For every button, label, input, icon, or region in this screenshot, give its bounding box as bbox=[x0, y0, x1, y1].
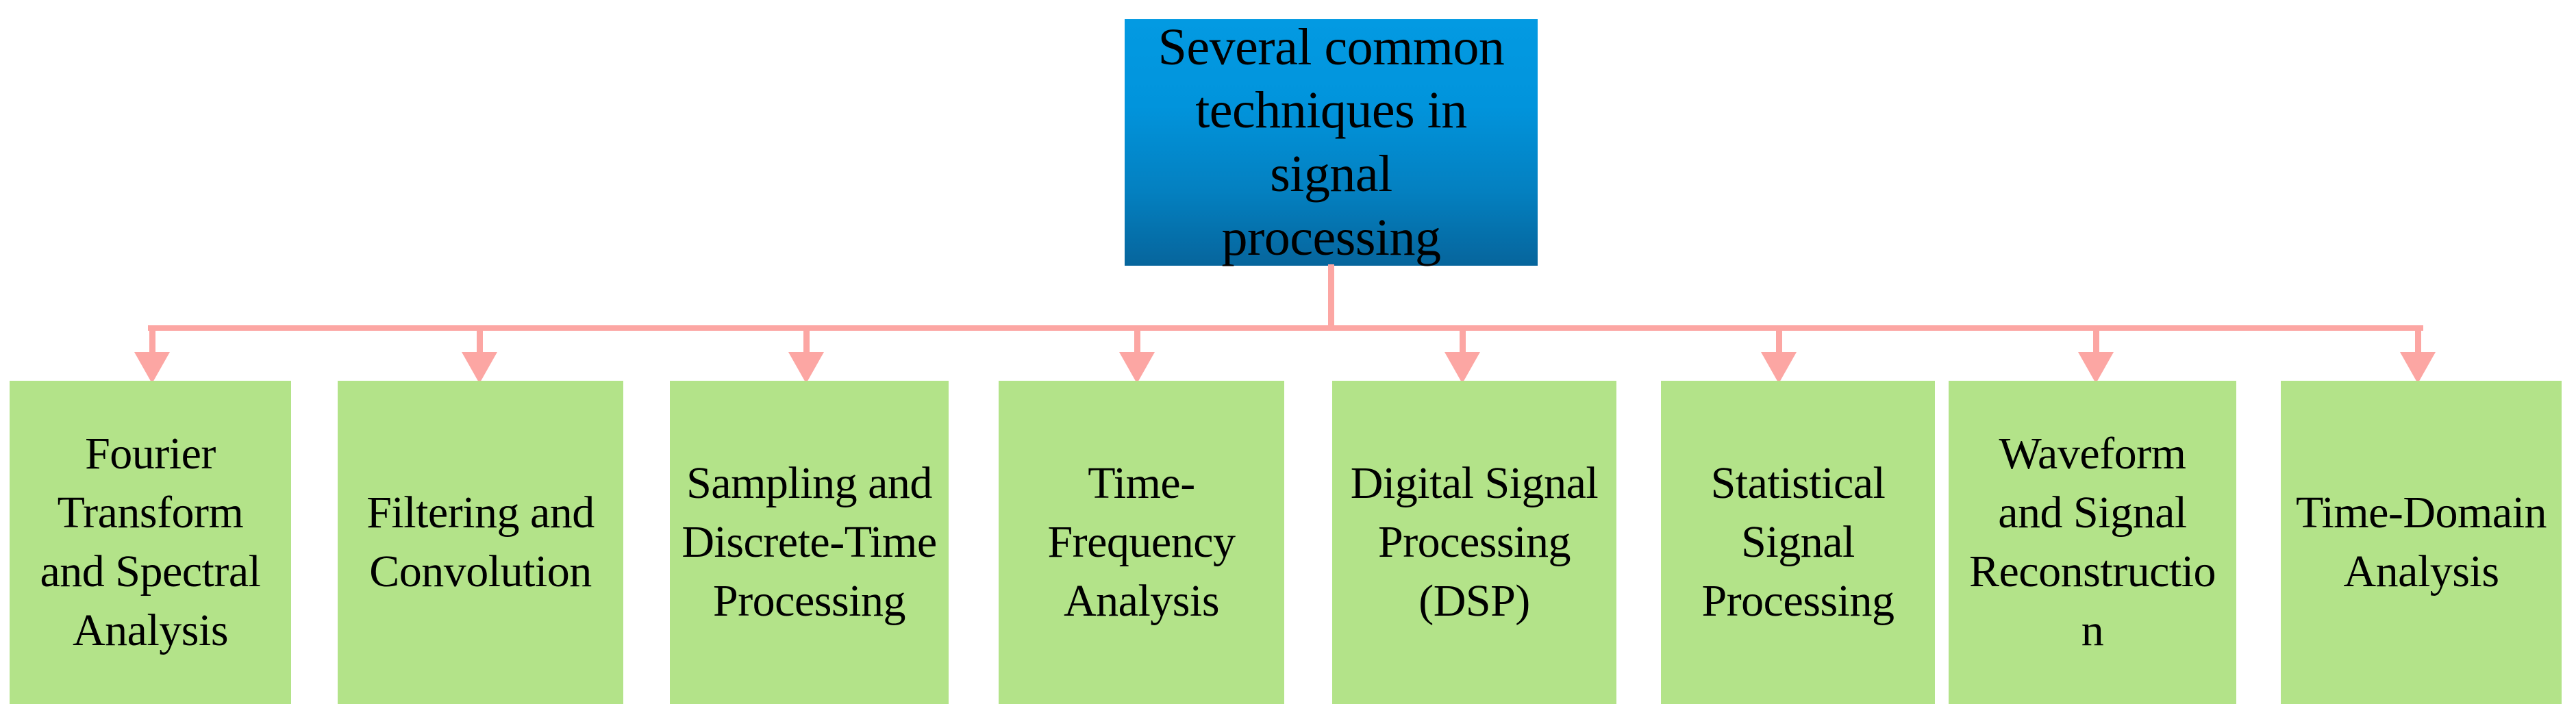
connector-arrow-2 bbox=[462, 325, 497, 384]
arrow-stem-icon bbox=[803, 325, 810, 353]
arrow-stem-icon bbox=[1460, 325, 1466, 353]
leaf-node-4[interactable]: Time- Frequency Analysis bbox=[999, 381, 1284, 704]
connector-arrow-1 bbox=[134, 325, 170, 384]
leaf-node-7[interactable]: Waveform and Signal Reconstructio n bbox=[1949, 381, 2236, 704]
arrow-stem-icon bbox=[2093, 325, 2099, 353]
leaf-node-2[interactable]: Filtering and Convolution bbox=[338, 381, 623, 704]
arrow-stem-icon bbox=[1134, 325, 1140, 353]
connector-arrow-6 bbox=[1761, 325, 1797, 384]
arrow-stem-icon bbox=[1776, 325, 1782, 353]
connector-arrow-3 bbox=[788, 325, 824, 384]
leaf-node-label: Time- Frequency Analysis bbox=[1007, 454, 1276, 630]
leaf-node-label: Time-Domain Analysis bbox=[2289, 483, 2553, 601]
root-connector-stem bbox=[1328, 264, 1334, 328]
leaf-node-3[interactable]: Sampling and Discrete-Time Processing bbox=[670, 381, 949, 704]
arrow-stem-icon bbox=[477, 325, 483, 353]
leaf-node-label: Digital Signal Processing (DSP) bbox=[1340, 454, 1608, 630]
arrow-head-icon bbox=[1119, 352, 1155, 384]
leaf-node-label: Sampling and Discrete-Time Processing bbox=[678, 454, 940, 630]
arrow-head-icon bbox=[462, 352, 497, 384]
leaf-node-5[interactable]: Digital Signal Processing (DSP) bbox=[1332, 381, 1616, 704]
leaf-node-label: Fourier Transform and Spectral Analysis bbox=[18, 425, 283, 659]
diagram-canvas: Several common techniques in signal proc… bbox=[0, 0, 2576, 704]
leaf-node-label: Waveform and Signal Reconstructio n bbox=[1957, 425, 2228, 659]
arrow-head-icon bbox=[2078, 352, 2114, 384]
connector-arrow-8 bbox=[2400, 325, 2436, 384]
connector-arrow-7 bbox=[2078, 325, 2114, 384]
leaf-node-label: Filtering and Convolution bbox=[346, 483, 615, 601]
leaf-node-6[interactable]: Statistical Signal Processing bbox=[1661, 381, 1935, 704]
arrow-head-icon bbox=[2400, 352, 2436, 384]
root-node[interactable]: Several common techniques in signal proc… bbox=[1125, 19, 1538, 266]
root-node-label: Several common techniques in signal proc… bbox=[1142, 16, 1520, 270]
arrow-stem-icon bbox=[149, 325, 155, 353]
arrow-stem-icon bbox=[2415, 325, 2421, 353]
leaf-node-8[interactable]: Time-Domain Analysis bbox=[2281, 381, 2562, 704]
leaf-node-1[interactable]: Fourier Transform and Spectral Analysis bbox=[10, 381, 291, 704]
arrow-head-icon bbox=[788, 352, 824, 384]
arrow-head-icon bbox=[134, 352, 170, 384]
leaf-node-label: Statistical Signal Processing bbox=[1669, 454, 1927, 630]
connector-arrow-5 bbox=[1445, 325, 1480, 384]
arrow-head-icon bbox=[1761, 352, 1797, 384]
connector-arrow-4 bbox=[1119, 325, 1155, 384]
arrow-head-icon bbox=[1445, 352, 1480, 384]
